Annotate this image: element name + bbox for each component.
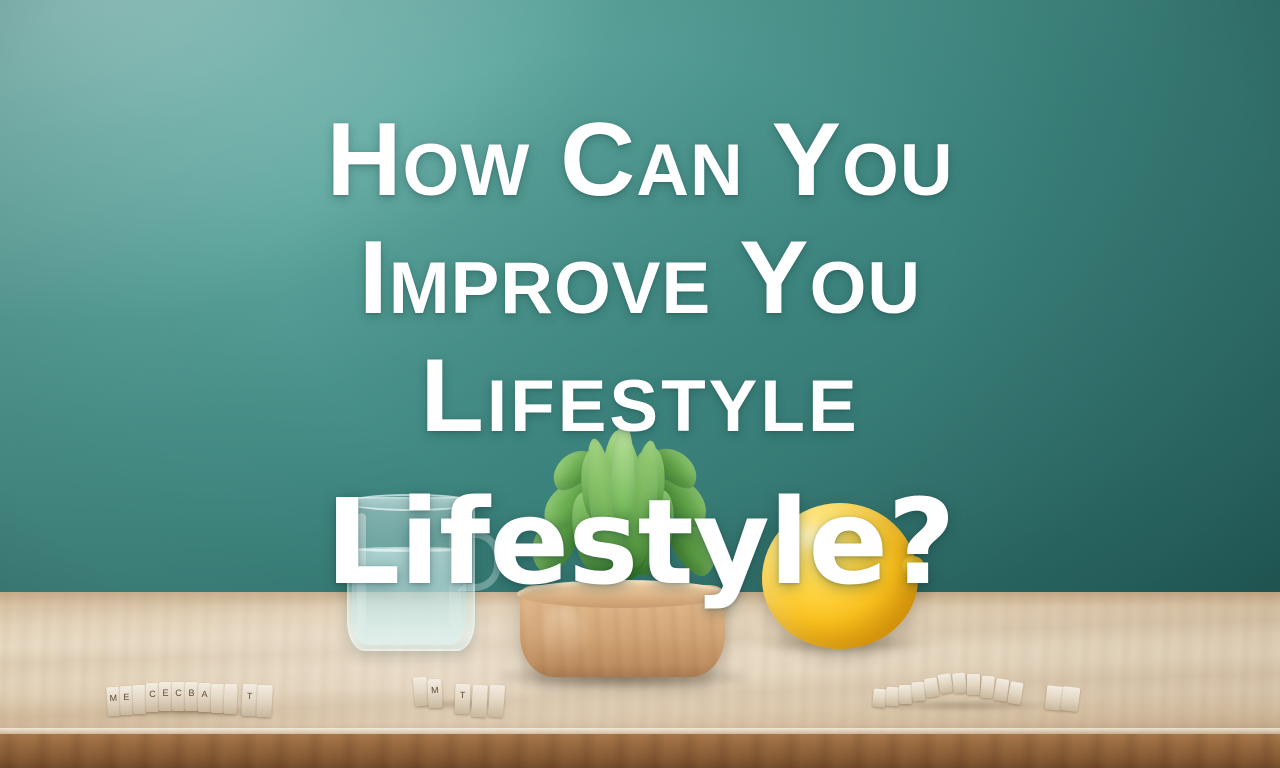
tile: C bbox=[172, 682, 185, 711]
tile: T bbox=[241, 684, 258, 717]
tile: A bbox=[198, 683, 212, 712]
tile bbox=[980, 675, 995, 698]
tile: C bbox=[146, 683, 160, 712]
tile bbox=[256, 685, 273, 718]
tile: M bbox=[106, 687, 120, 717]
tile bbox=[471, 685, 488, 718]
pot-highlight bbox=[541, 606, 585, 662]
lemon-highlight bbox=[786, 520, 836, 554]
tile bbox=[911, 682, 925, 702]
glass-handle bbox=[457, 531, 501, 591]
tile bbox=[899, 685, 912, 704]
table-front-edge bbox=[0, 734, 1280, 768]
tile bbox=[223, 684, 237, 714]
glass-highlight-right bbox=[449, 519, 461, 627]
tile bbox=[886, 687, 900, 707]
tile bbox=[1061, 686, 1081, 712]
glass-rim bbox=[346, 494, 476, 511]
succulent-plant bbox=[515, 430, 730, 680]
tile bbox=[924, 677, 940, 698]
glass-of-water bbox=[345, 497, 473, 649]
pot-rim bbox=[517, 580, 728, 608]
lemon-tip bbox=[902, 556, 924, 576]
glass-highlight-left bbox=[357, 513, 366, 629]
tile: E bbox=[159, 682, 172, 711]
lemon bbox=[762, 503, 918, 649]
tile bbox=[952, 672, 967, 693]
tile: E bbox=[119, 686, 133, 715]
tile: T bbox=[454, 684, 470, 715]
tile bbox=[872, 688, 887, 707]
tile bbox=[211, 684, 225, 713]
tile: B bbox=[185, 682, 198, 711]
tile bbox=[967, 674, 980, 695]
banner-canvas: M E C E C B A T M T bbox=[0, 0, 1280, 768]
tile bbox=[488, 685, 505, 718]
tile: M bbox=[427, 679, 442, 709]
tile bbox=[132, 685, 146, 714]
